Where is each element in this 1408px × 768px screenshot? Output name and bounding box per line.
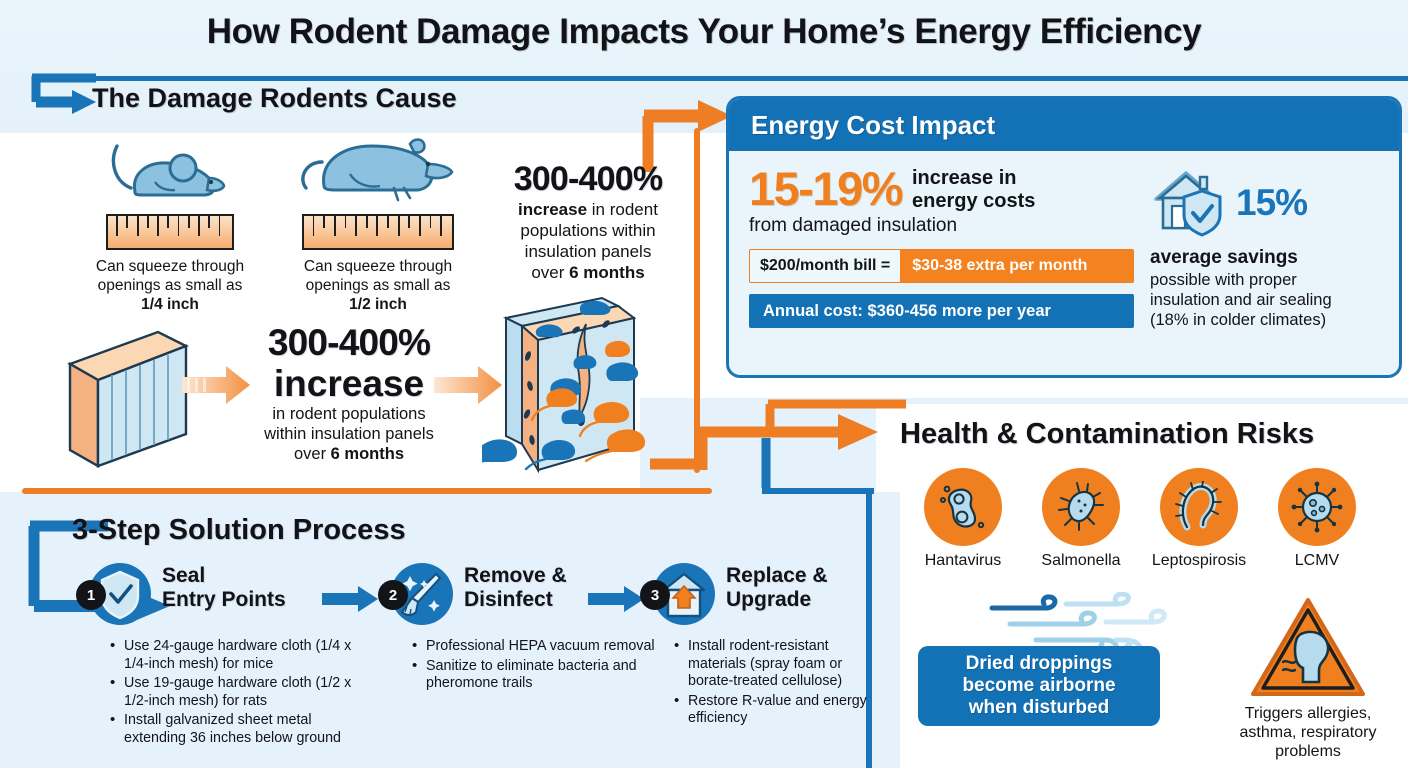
step-3-title: Replace & Upgrade <box>726 564 828 612</box>
hantavirus-icon <box>924 468 1002 546</box>
step-arrow-1-to-2-icon <box>322 586 378 612</box>
energy-increase-percent: 15-19% <box>749 165 902 213</box>
list-item: Install galvanized sheet metal extending… <box>110 712 370 747</box>
step-2-icon-badge: 2 <box>390 562 454 626</box>
step-arrow-2-to-3-icon <box>588 586 644 612</box>
germ-label: Leptospirosis <box>1144 552 1254 570</box>
energy-source-label: from damaged insulation <box>749 215 1134 237</box>
panel-stat-percent: 300-400% <box>218 322 480 364</box>
energy-increase-label-2: energy costs <box>912 190 1035 213</box>
lcmv-virus-icon <box>1278 468 1356 546</box>
infographic-root: How Rodent Damage Impacts Your Home’s En… <box>0 0 1408 768</box>
step-1-title: Seal Entry Points <box>162 564 286 612</box>
health-section-heading: Health & Contamination Risks <box>900 418 1314 451</box>
list-item: Professional HEPA vacuum removal <box>412 638 672 656</box>
top-blue-rule <box>96 76 1408 81</box>
step-2-bullets: Professional HEPA vacuum removal Sanitiz… <box>412 638 672 695</box>
leptospirosis-spirochete-icon <box>1160 468 1238 546</box>
critter-rat: Can squeeze through openings as small as… <box>290 130 466 314</box>
step-1-bullets: Use 24-gauge hardware cloth (1/4 x 1/4-i… <box>110 638 370 749</box>
energy-panel-heading: Energy Cost Impact <box>729 99 1399 151</box>
list-item: Restore R-value and energy efficiency <box>674 693 889 728</box>
bill-base-label: $200/month bill = <box>750 250 900 282</box>
health-connector-arrow <box>650 398 910 488</box>
ruler-quarter-inch <box>106 214 234 250</box>
step-2-number: 2 <box>378 580 408 610</box>
step-3-icon-badge: 3 <box>652 562 716 626</box>
list-item: Install rodent-resistant materials (spra… <box>674 638 889 691</box>
mid-stat-percent: 300-400% <box>488 160 688 199</box>
energy-left-column: 15-19% increase in energy costs from dam… <box>749 165 1134 364</box>
house-shield-icon <box>1150 165 1230 241</box>
ruler-half-inch <box>302 214 454 250</box>
savings-percent: 15% <box>1236 182 1307 224</box>
step-3-number: 3 <box>640 580 670 610</box>
step-1-icon-badge: 1 <box>88 562 152 626</box>
damage-section-heading: The Damage Rodents Cause <box>92 83 457 114</box>
respiratory-warning-caption: Triggers allergies, asthma, respiratory … <box>1218 704 1398 761</box>
rat-caption: Can squeeze through openings as small as… <box>290 257 466 314</box>
step-3-bullets: Install rodent-resistant materials (spra… <box>674 638 889 730</box>
steps-section-heading: 3-Step Solution Process <box>72 514 406 547</box>
respiratory-warning-triangle-icon <box>1249 596 1367 700</box>
savings-detail-3: (18% in colder climates) <box>1150 310 1379 330</box>
list-item: Use 19-gauge hardware cloth (1/2 x 1/2-i… <box>110 675 370 710</box>
respiratory-warning: Triggers allergies, asthma, respiratory … <box>1218 596 1398 761</box>
steps-orange-divider <box>22 488 712 494</box>
page-title: How Rodent Damage Impacts Your Home’s En… <box>0 12 1408 52</box>
energy-cost-panel: Energy Cost Impact 15-19% increase in en… <box>726 96 1402 378</box>
germ-label: LCMV <box>1262 552 1372 570</box>
dried-droppings-callout: Dried droppings become airborne when dis… <box>918 646 1160 726</box>
list-item: Use 24-gauge hardware cloth (1/4 x 1/4-i… <box>110 638 370 673</box>
step-2-title: Remove & Disinfect <box>464 564 567 612</box>
steps-right-top-rule <box>762 488 874 494</box>
clean-insulation-panel-icon <box>62 324 194 472</box>
damage-connector-arrow <box>30 72 100 122</box>
germ-lcmv: LCMV <box>1262 468 1372 570</box>
salmonella-bacteria-icon <box>1042 468 1120 546</box>
energy-increase-label-1: increase in <box>912 167 1035 190</box>
mouse-caption: Can squeeze through openings as small as… <box>88 257 252 314</box>
energy-right-column: 15% average savings possible with proper… <box>1150 165 1379 364</box>
mouse-icon <box>105 136 235 214</box>
step-1-number: 1 <box>76 580 106 610</box>
savings-detail-2: insulation and air sealing <box>1150 290 1379 310</box>
germ-hantavirus: Hantavirus <box>908 468 1018 570</box>
germ-leptospirosis: Leptospirosis <box>1144 468 1254 570</box>
mid-population-stat: 300-400% increase in rodent populations … <box>488 160 688 283</box>
savings-detail-1: possible with proper <box>1150 270 1379 290</box>
rat-icon <box>298 130 458 214</box>
monthly-bill-bar: $200/month bill = $30-38 extra per month <box>749 249 1134 283</box>
savings-title: average savings <box>1150 247 1379 269</box>
annual-cost-bar: Annual cost: $360-456 more per year <box>749 294 1134 328</box>
list-item: Sanitize to eliminate bacteria and phero… <box>412 658 672 693</box>
bill-extra-label: $30-38 extra per month <box>900 250 1133 282</box>
germ-label: Hantavirus <box>908 552 1018 570</box>
germ-label: Salmonella <box>1026 552 1136 570</box>
germ-salmonella: Salmonella <box>1026 468 1136 570</box>
critter-mouse: Can squeeze through openings as small as… <box>88 136 252 314</box>
